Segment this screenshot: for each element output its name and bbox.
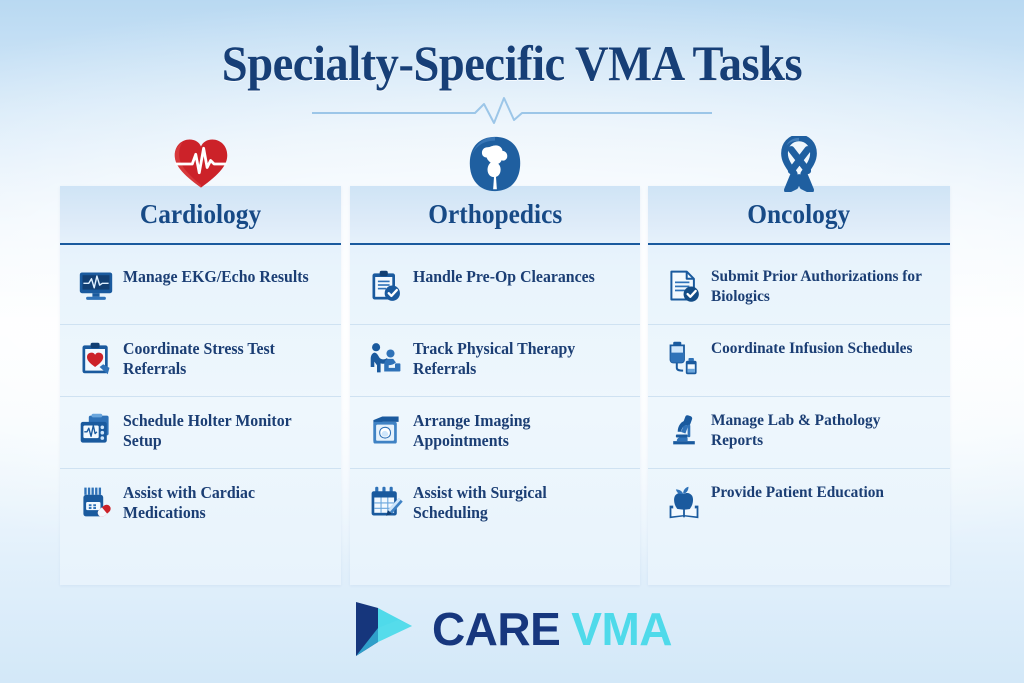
- column-header-oncology: Oncology: [648, 186, 950, 245]
- heart-ekg-icon: [173, 136, 229, 192]
- column-cardiology: Cardiology Manage EKG/Echo Results: [60, 186, 341, 585]
- column-title: Oncology: [748, 199, 851, 230]
- task-item[interactable]: Schedule Holter Monitor Setup: [60, 397, 341, 469]
- task-item[interactable]: Provide Patient Education: [648, 469, 950, 541]
- ekg-monitor-icon: [78, 268, 114, 304]
- logo-word-care: CARE: [432, 602, 560, 656]
- task-label: Assist with Surgical Scheduling: [413, 482, 617, 524]
- task-item[interactable]: Submit Prior Authorizations for Biologic…: [648, 253, 950, 325]
- apple-book-icon: [666, 484, 702, 520]
- clipboard-heart-icon: [78, 340, 114, 376]
- page-title: Specialty-Specific VMA Tasks: [36, 34, 988, 92]
- holter-monitor-icon: [78, 412, 114, 448]
- task-label: Manage Lab & Pathology Reports: [711, 410, 927, 451]
- task-item[interactable]: Track Physical Therapy Referrals: [350, 325, 640, 397]
- column-title: Cardiology: [140, 199, 261, 230]
- infographic-canvas: Specialty-Specific VMA Tasks Cardiology: [0, 0, 1024, 683]
- task-list-cardiology: Manage EKG/Echo Results Coordinate Stres…: [60, 245, 341, 541]
- microscope-icon: [666, 412, 702, 448]
- task-label: Track Physical Therapy Referrals: [413, 338, 617, 380]
- task-label: Coordinate Stress Test Referrals: [123, 338, 319, 380]
- task-list-orthopedics: Handle Pre-Op Clearances Track Physical …: [350, 245, 640, 541]
- task-label: Handle Pre-Op Clearances: [413, 266, 595, 287]
- task-label: Assist with Cardiac Medications: [123, 482, 319, 524]
- bone-joint-icon: [467, 136, 523, 192]
- task-label: Provide Patient Education: [711, 482, 884, 503]
- physical-therapy-icon: [368, 340, 404, 376]
- task-item[interactable]: Arrange Imaging Appointments: [350, 397, 640, 469]
- task-item[interactable]: Coordinate Stress Test Referrals: [60, 325, 341, 397]
- task-label: Schedule Holter Monitor Setup: [123, 410, 319, 452]
- column-header-cardiology: Cardiology: [60, 186, 341, 245]
- task-label: Coordinate Infusion Schedules: [711, 338, 912, 359]
- task-item[interactable]: Manage Lab & Pathology Reports: [648, 397, 950, 469]
- column-header-orthopedics: Orthopedics: [350, 186, 640, 245]
- logo-word-vma: VMA: [571, 602, 672, 656]
- calendar-pencil-icon: [368, 484, 404, 520]
- iv-infusion-icon: [666, 340, 702, 376]
- clipboard-check-icon: [368, 268, 404, 304]
- column-title: Orthopedics: [428, 199, 562, 230]
- task-item[interactable]: Assist with Surgical Scheduling: [350, 469, 640, 541]
- logo-wordmark: CARE VMA: [432, 602, 672, 656]
- pill-bottle-icon: [78, 484, 114, 520]
- task-item[interactable]: Coordinate Infusion Schedules: [648, 325, 950, 397]
- task-label: Submit Prior Authorizations for Biologic…: [711, 266, 927, 307]
- column-orthopedics: Orthopedics: [350, 186, 640, 585]
- document-check-icon: [666, 268, 702, 304]
- care-vma-chevron-mark-icon: [352, 598, 418, 660]
- task-item[interactable]: Handle Pre-Op Clearances: [350, 253, 640, 325]
- task-label: Manage EKG/Echo Results: [123, 266, 309, 287]
- task-item[interactable]: Assist with Cardiac Medications: [60, 469, 341, 541]
- task-item[interactable]: Manage EKG/Echo Results: [60, 253, 341, 325]
- awareness-ribbon-icon: [771, 136, 827, 192]
- brand-logo: CARE VMA: [0, 594, 1024, 664]
- specialty-columns: Cardiology Manage EKG/Echo Results: [0, 186, 1024, 586]
- task-list-oncology: Submit Prior Authorizations for Biologic…: [648, 245, 950, 541]
- xray-imaging-icon: [368, 412, 404, 448]
- column-oncology: Oncology Submit Prior: [648, 186, 950, 585]
- ekg-line-divider-icon: [312, 96, 712, 130]
- task-label: Arrange Imaging Appointments: [413, 410, 617, 452]
